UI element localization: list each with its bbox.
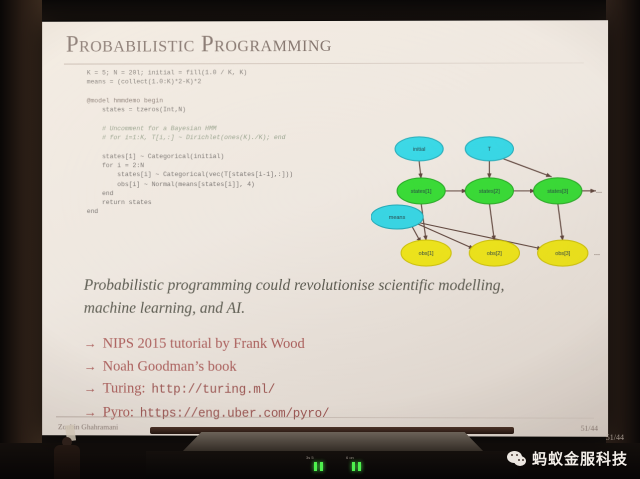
code-block: K = 5; N = 20l; initial = fill(1.0 / K, …	[87, 68, 386, 217]
bullet-url[interactable]: http://turing.ml/	[151, 379, 275, 402]
status-led	[314, 462, 317, 471]
watermark-text: 蚂蚁金服科技	[532, 448, 628, 469]
code-line: end	[87, 209, 98, 216]
node-label: obs[2]	[487, 251, 502, 257]
list-item: → Turing: http://turing.ml/	[84, 378, 554, 403]
bullet-label: NIPS 2015 tutorial by Frank Wood	[103, 333, 305, 356]
code-line: # for i=1:K, T[i,:] ~ Dirichlet(ones(K).…	[87, 134, 286, 141]
podium-monitor: 3s 5 6 on	[146, 421, 518, 479]
node-label: states[2]	[479, 189, 500, 195]
model-nodes	[371, 137, 588, 266]
code-line: @model hmmdemo begin	[87, 97, 163, 104]
states-ellipsis: ...	[596, 186, 602, 195]
slide-title: Probabilistic Programming	[66, 30, 586, 57]
slide-page-number: 51/44	[581, 424, 598, 433]
code-line: return states	[87, 199, 152, 206]
wall-right	[606, 0, 640, 479]
code-line: K = 5; N = 20l; initial = fill(1.0 / K, …	[87, 69, 247, 76]
arrow-icon: →	[84, 401, 97, 423]
code-line: # Uncomment for a Bayesian HMM	[87, 125, 217, 132]
model-edges	[409, 159, 596, 249]
node-label: initial	[413, 147, 426, 153]
node-label: states[1]	[411, 189, 432, 195]
bullet-label: Turing:	[103, 378, 146, 401]
code-line: for i = 2:N	[87, 162, 144, 169]
code-line: end	[87, 190, 114, 197]
node-label: obs[1]	[419, 251, 434, 257]
status-led	[352, 462, 355, 471]
status-led	[320, 462, 323, 471]
code-line: states = tzeros(Int,N)	[87, 106, 186, 113]
watermark: 蚂蚁金服科技	[507, 448, 628, 469]
list-item: → Noah Goodman’s book	[84, 355, 554, 378]
presenter-silhouette	[52, 423, 92, 479]
code-line: means = (collect(1.0:K)*2-K)*2	[87, 79, 201, 86]
node-label: states[3]	[547, 189, 568, 195]
obs-ellipsis: ...	[594, 248, 600, 257]
projected-slide: Probabilistic Programming K = 5; N = 20l…	[42, 20, 608, 437]
ceiling	[0, 0, 640, 20]
title-rule	[64, 62, 584, 64]
bullet-list: → NIPS 2015 tutorial by Frank Wood → Noa…	[84, 333, 554, 426]
led-label: 6 on	[346, 455, 354, 460]
graphical-model-diagram: initial T means states[1] states[2] stat…	[371, 129, 602, 280]
watermark-page-number: 51/44	[606, 433, 624, 442]
code-line: states[i] ~ Categorical(vec(T[states[i-1…	[87, 171, 293, 178]
wall-left	[0, 0, 42, 479]
bullet-label: Noah Goodman’s book	[103, 355, 237, 378]
list-item: → NIPS 2015 tutorial by Frank Wood	[84, 333, 554, 356]
arrow-icon: →	[84, 355, 97, 377]
arrow-icon: →	[84, 333, 97, 355]
code-line: obs[i] ~ Normal(means[states[i]], 4)	[87, 181, 255, 188]
podium-base	[146, 451, 518, 479]
code-line: states[1] ~ Categorical(initial)	[87, 153, 224, 160]
presenter-body	[54, 445, 80, 479]
node-label: obs[3]	[555, 251, 571, 257]
slide-statement: Probabilistic programming could revoluti…	[84, 274, 534, 320]
led-label: 3s 5	[306, 455, 314, 460]
arrow-icon: →	[84, 378, 97, 400]
node-label: means	[389, 215, 406, 221]
wechat-icon	[507, 451, 526, 467]
bullet-label: Pyro:	[103, 401, 134, 424]
status-led	[358, 462, 361, 471]
